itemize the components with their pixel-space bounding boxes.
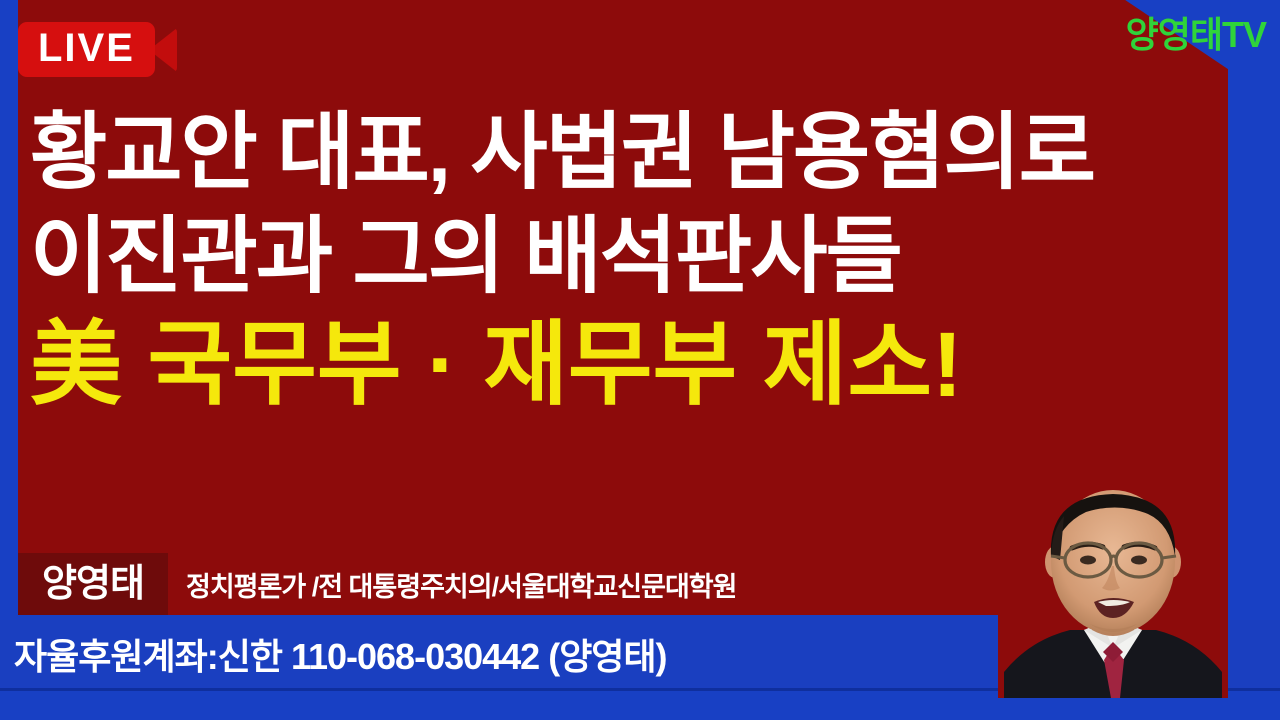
live-badge-pill: LIVE bbox=[18, 22, 155, 77]
speaker-name-box: 양영태 bbox=[18, 553, 168, 615]
donation-account-text: 자율후원계좌:신한 110-068-030442 (양영태) bbox=[0, 628, 667, 680]
channel-logo: 양영태TV bbox=[1126, 6, 1266, 58]
headline-block: 황교안 대표, 사법권 남용혐의로 이진관과 그의 배석판사들 美 국무부 · … bbox=[30, 100, 1230, 422]
speaker-credentials: 정치평론가 /전 대통령주치의/서울대학교신문대학원 bbox=[168, 565, 737, 604]
live-badge-label: LIVE bbox=[38, 28, 135, 68]
headline-line-1: 황교안 대표, 사법권 남용혐의로 bbox=[30, 100, 1230, 204]
live-badge: LIVE bbox=[18, 22, 177, 77]
headline-line-3: 美 국무부 · 재무부 제소! bbox=[30, 308, 1230, 422]
headline-line-2: 이진관과 그의 배석판사들 bbox=[30, 204, 1230, 308]
speaker-name: 양영태 bbox=[42, 565, 144, 603]
speaker-portrait bbox=[998, 490, 1228, 698]
